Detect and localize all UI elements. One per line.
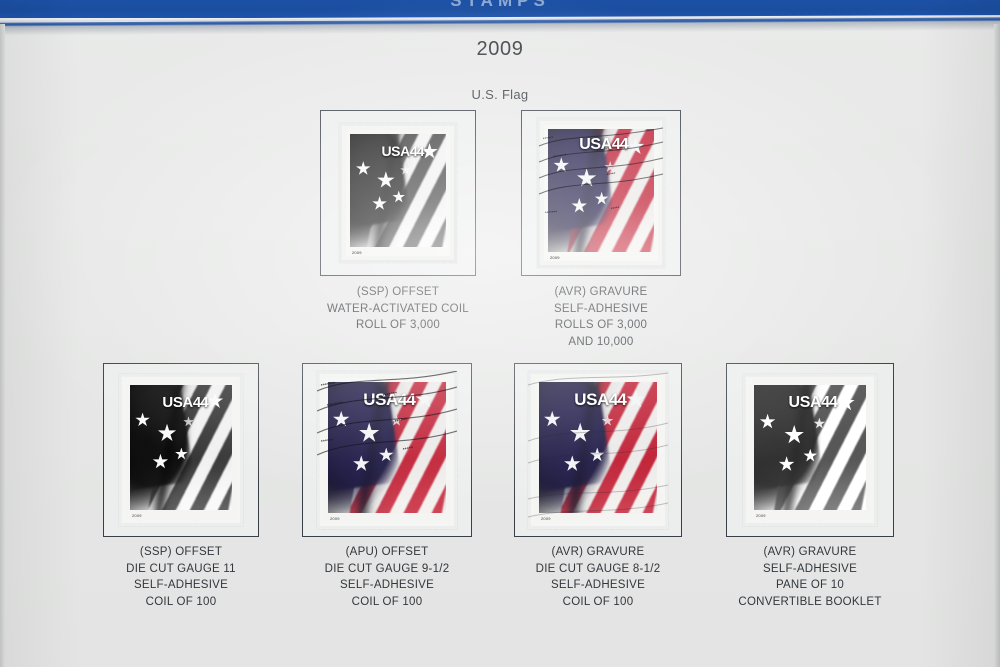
caption-line: AND 10,000 bbox=[503, 334, 699, 351]
page-left-edge bbox=[0, 24, 5, 667]
denomination-value: 44 bbox=[609, 390, 626, 409]
stamp-mount-ssp-offset-die-cut-11-coil[interactable]: USA44 2009 bbox=[103, 363, 259, 537]
caption-line: (AVR) GRAVURE bbox=[500, 544, 696, 561]
mount-inner: USA44 2009 •••••• bbox=[522, 111, 680, 275]
mount-inner: USA44 2009 bbox=[104, 364, 258, 536]
caption-avr-gravure-pane-of-10-booklet: (AVR) GRAVURE SELF-ADHESIVE PANE OF 10 C… bbox=[712, 544, 908, 610]
usa-label: USA bbox=[789, 394, 822, 411]
caption-ssp-offset-water-activated-coil: (SSP) OFFSET WATER-ACTIVATED COIL ROLL O… bbox=[300, 284, 496, 334]
stamp-denomination: USA44 bbox=[789, 394, 837, 412]
stamp-year-mark: 2009 bbox=[550, 255, 560, 260]
stamp-ssp-offset-water-activated-coil[interactable]: USA44 2009 bbox=[339, 123, 457, 263]
usa-label: USA bbox=[381, 143, 409, 159]
caption-line: (SSP) OFFSET bbox=[83, 544, 279, 561]
caption-line: DIE CUT GAUGE 11 bbox=[83, 561, 279, 578]
stamp-avr-gravure-pane-of-10-booklet[interactable]: USA44 2009 bbox=[743, 374, 877, 526]
denomination-value: 44 bbox=[612, 136, 628, 153]
stamp-denomination: USA44 bbox=[574, 390, 626, 410]
mount-inner: USA44 2009 bbox=[515, 364, 681, 536]
denomination-value: 44 bbox=[398, 390, 415, 409]
stamp-denomination: USA44 bbox=[381, 143, 423, 159]
stamp-denomination: USA44 bbox=[579, 136, 627, 154]
album-page: STAMPS 2009 U.S. Flag bbox=[0, 0, 1000, 667]
usa-label: USA bbox=[162, 394, 192, 411]
caption-apu-offset-die-cut-9-half-coil: (APU) OFFSET DIE CUT GAUGE 9-1/2 SELF-AD… bbox=[289, 544, 485, 610]
page-right-edge bbox=[994, 24, 1000, 667]
caption-line: COIL OF 100 bbox=[289, 594, 485, 611]
caption-line: SELF-ADHESIVE bbox=[712, 561, 908, 578]
caption-line: WATER-ACTIVATED COIL bbox=[300, 301, 496, 318]
caption-line: (APU) OFFSET bbox=[289, 544, 485, 561]
stamp-mount-apu-offset-die-cut-9-half-coil[interactable]: USA44 2009 ••••••• bbox=[302, 363, 472, 537]
caption-line: SELF-ADHESIVE bbox=[289, 577, 485, 594]
page-title-year: 2009 bbox=[0, 38, 1000, 61]
stamp-mount-ssp-offset-water-activated-coil[interactable]: USA44 2009 bbox=[320, 110, 476, 276]
caption-avr-gravure-die-cut-8-half-coil: (AVR) GRAVURE DIE CUT GAUGE 8-1/2 SELF-A… bbox=[500, 544, 696, 610]
stamp-denomination: USA44 bbox=[363, 390, 415, 410]
stamp-year-mark: 2009 bbox=[541, 516, 551, 521]
stamp-mount-avr-gravure-die-cut-8-half-coil[interactable]: USA44 2009 bbox=[514, 363, 682, 537]
stamp-mount-avr-gravure-pane-of-10-booklet[interactable]: USA44 2009 bbox=[726, 363, 894, 537]
caption-line: (AVR) GRAVURE bbox=[712, 544, 908, 561]
caption-line: COIL OF 100 bbox=[500, 594, 696, 611]
usa-label: USA bbox=[574, 390, 609, 409]
mount-inner: USA44 2009 bbox=[727, 364, 893, 536]
stamp-apu-offset-die-cut-9-half-coil[interactable]: USA44 2009 ••••••• bbox=[317, 371, 457, 529]
caption-line: DIE CUT GAUGE 8-1/2 bbox=[500, 561, 696, 578]
stamp-year-mark: 2009 bbox=[352, 250, 362, 255]
stamp-year-mark: 2009 bbox=[132, 513, 142, 518]
stamp-avr-gravure-die-cut-8-half-coil[interactable]: USA44 2009 bbox=[528, 371, 668, 529]
denomination-value: 44 bbox=[821, 394, 837, 411]
caption-ssp-offset-die-cut-11-coil: (SSP) OFFSET DIE CUT GAUGE 11 SELF-ADHES… bbox=[83, 544, 279, 610]
stamp-avr-gravure-self-adhesive-rolls[interactable]: USA44 2009 •••••• bbox=[537, 118, 665, 268]
stamp-year-mark: 2009 bbox=[330, 516, 340, 521]
stamp-year-mark: 2009 bbox=[756, 513, 766, 518]
mount-inner: USA44 2009 bbox=[321, 111, 475, 275]
denomination-value: 44 bbox=[193, 394, 208, 411]
binder-band-text: STAMPS bbox=[0, 0, 1000, 11]
caption-line: (AVR) GRAVURE bbox=[503, 284, 699, 301]
denomination-value: 44 bbox=[410, 143, 424, 159]
caption-avr-gravure-self-adhesive-rolls: (AVR) GRAVURE SELF-ADHESIVE ROLLS OF 3,0… bbox=[503, 284, 699, 350]
caption-line: ROLLS OF 3,000 bbox=[503, 317, 699, 334]
caption-line: SELF-ADHESIVE bbox=[503, 301, 699, 318]
stamp-denomination: USA44 bbox=[162, 394, 207, 411]
caption-line: COIL OF 100 bbox=[83, 594, 279, 611]
stamp-mount-avr-gravure-self-adhesive-rolls[interactable]: USA44 2009 •••••• bbox=[521, 110, 681, 276]
mount-inner: USA44 2009 ••••••• bbox=[303, 364, 471, 536]
caption-line: ROLL OF 3,000 bbox=[300, 317, 496, 334]
caption-line: (SSP) OFFSET bbox=[300, 284, 496, 301]
usa-label: USA bbox=[363, 390, 398, 409]
caption-line: PANE OF 10 bbox=[712, 577, 908, 594]
caption-line: CONVERTIBLE BOOKLET bbox=[712, 594, 908, 611]
usa-label: USA bbox=[579, 136, 612, 153]
page-subtitle-series: U.S. Flag bbox=[0, 87, 1000, 102]
caption-line: SELF-ADHESIVE bbox=[83, 577, 279, 594]
caption-line: DIE CUT GAUGE 9-1/2 bbox=[289, 561, 485, 578]
stamp-ssp-offset-die-cut-11-coil[interactable]: USA44 2009 bbox=[119, 374, 243, 526]
caption-line: SELF-ADHESIVE bbox=[500, 577, 696, 594]
